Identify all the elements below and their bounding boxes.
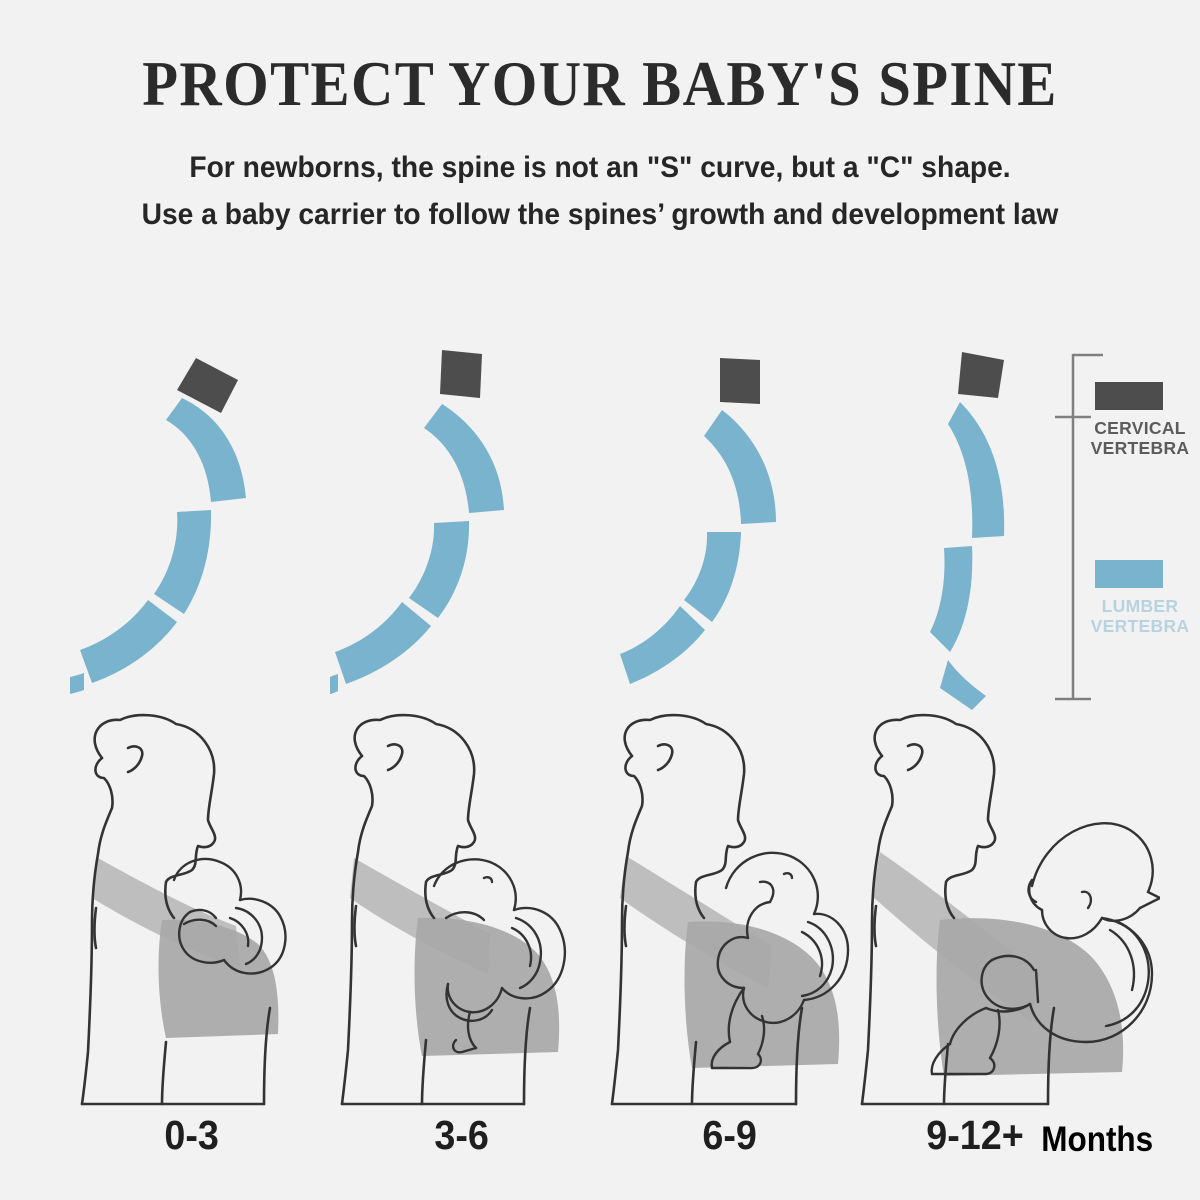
lumber-legend-label: LUMBER VERTEBRA (1075, 596, 1200, 636)
age-label-9-12: 9-12+ (926, 1112, 1024, 1159)
cervical-color-swatch (1095, 382, 1163, 410)
mother-baby-figure-9-12 (840, 712, 1160, 1112)
mother-baby-figure-0-3 (58, 712, 308, 1112)
cervical-legend-label: CERVICAL VERTEBRA (1075, 418, 1200, 458)
header: PROTECT YOUR BABY'S SPINE For newborns, … (0, 0, 1200, 238)
spine-lumber-segments-9-12 (930, 402, 1004, 710)
lumber-color-swatch (1095, 560, 1163, 588)
months-unit-label: Months (1041, 1120, 1153, 1160)
subtitle-line-1: For newborns, the spine is not an "S" cu… (36, 145, 1164, 192)
carrier-body-0-3 (159, 920, 279, 1038)
spine-lumber-segments-3-6 (330, 404, 504, 694)
mother-baby-figure-3-6 (322, 712, 592, 1112)
cervical-legend-line-2: VERTEBRA (1075, 438, 1200, 458)
spine-diagram-row (0, 340, 1200, 710)
lumber-legend-line-2: VERTEBRA (1075, 616, 1200, 636)
age-label-3-6: 3-6 (434, 1112, 489, 1159)
carrier-body-9-12 (937, 918, 1124, 1076)
mother-baby-figure-6-9 (592, 712, 882, 1112)
spine-cervical-segment-3-6 (440, 350, 482, 398)
spine-diagram-6-9 (620, 340, 880, 710)
age-label-0-3: 0-3 (164, 1112, 219, 1159)
infographic-page: PROTECT YOUR BABY'S SPINE For newborns, … (0, 0, 1200, 1200)
page-title: PROTECT YOUR BABY'S SPINE (42, 48, 1158, 121)
spine-cervical-segment-6-9 (720, 358, 760, 404)
lumber-legend-line-1: LUMBER (1075, 596, 1200, 616)
cervical-legend-line-1: CERVICAL (1075, 418, 1200, 438)
age-label-6-9: 6-9 (702, 1112, 757, 1159)
spine-cervical-segment-9-12 (958, 352, 1004, 398)
spine-lumber-segments-0-3 (70, 398, 246, 694)
spine-diagram-3-6 (330, 340, 590, 710)
subtitle-block: For newborns, the spine is not an "S" cu… (0, 145, 1200, 238)
carry-position-figure-row (0, 712, 1200, 1112)
age-label-row: 0-3 3-6 6-9 9-12+ Months (0, 1112, 1200, 1182)
subtitle-line-2: Use a baby carrier to follow the spines’… (36, 192, 1164, 239)
vertebra-legend: CERVICAL VERTEBRA LUMBER VERTEBRA (1055, 352, 1200, 702)
spine-diagram-0-3 (70, 340, 330, 710)
spine-lumber-segments-6-9 (620, 410, 776, 684)
